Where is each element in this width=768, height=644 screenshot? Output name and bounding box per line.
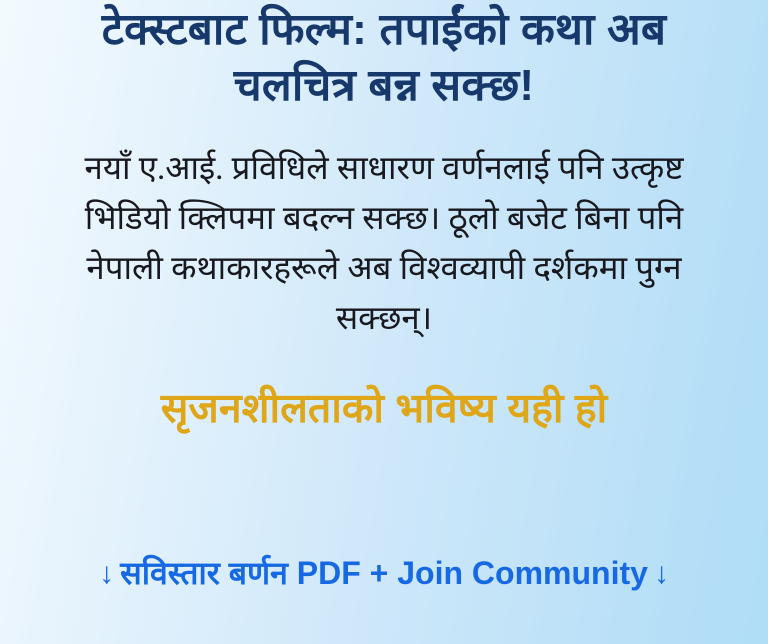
headline-line-1: टेक्स्टबाट फिल्म: तपाईंको कथा अब (34, 2, 734, 58)
body-line-4: सक्छन्। (8, 294, 760, 344)
page-title: टेक्स्टबाट फिल्म: तपाईंको कथा अब चलचित्र… (34, 2, 734, 114)
arrow-down-icon-left: ↓ (99, 553, 114, 595)
headline-line-2: चलचित्र बन्न सक्छ! (34, 58, 734, 114)
call-to-action[interactable]: ↓सविस्तार बर्णन PDF + Join Community↓ (0, 552, 768, 595)
body-line-2: भिडियो क्लिपमा बदल्न सक्छ। ठूलो बजेट बिन… (8, 194, 760, 244)
body-line-1: नयाँ ए.आई. प्रविधिले साधारण वर्णनलाई पनि… (8, 144, 760, 194)
call-to-action-label[interactable]: सविस्तार बर्णन PDF + Join Community (114, 552, 654, 594)
arrow-down-icon-right: ↓ (654, 553, 669, 595)
tagline-highlight: सृजनशीलताको भविष्य यही हो (24, 382, 744, 434)
body-line-3: नेपाली कथाकारहरूले अब विश्वव्यापी दर्शकम… (8, 244, 760, 294)
body-paragraph: नयाँ ए.आई. प्रविधिले साधारण वर्णनलाई पनि… (8, 144, 760, 344)
promo-poster: टेक्स्टबाट फिल्म: तपाईंको कथा अब चलचित्र… (0, 0, 768, 644)
